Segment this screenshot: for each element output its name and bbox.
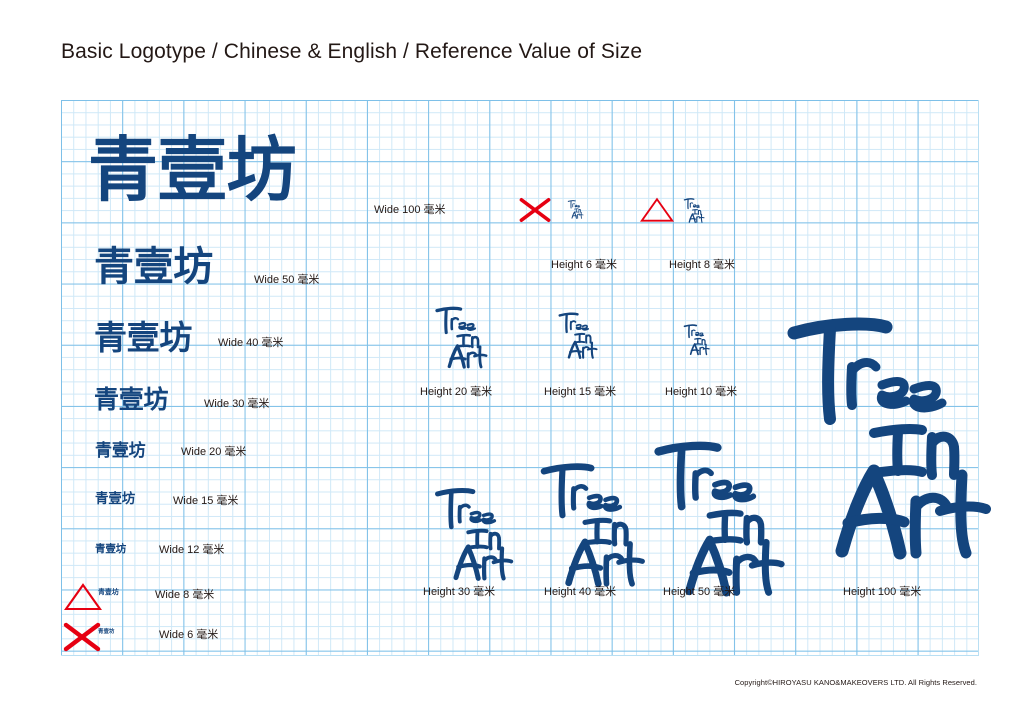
english-logotype-50 [656, 440, 784, 600]
english-logotype-10 [684, 324, 710, 356]
caption-chinese-30: Wide 30 毫米 [204, 399, 269, 410]
caption-chinese-12: Wide 12 毫米 [159, 545, 224, 556]
chinese-logotype-12: 青壹坊 [95, 544, 126, 555]
english-logotype-15 [559, 312, 597, 360]
caption-chinese-50: Wide 50 毫米 [254, 275, 319, 286]
page-title: Basic Logotype / Chinese & English / Ref… [61, 40, 642, 64]
caption-chinese-8: Wide 8 毫米 [155, 590, 214, 601]
chinese-logotype-8: 青壹坊 [98, 589, 119, 596]
english-logotype-100 [790, 315, 990, 565]
caption-english-20: Height 20 毫米 [420, 387, 492, 398]
chinese-logotype-100: 青壹坊 [88, 135, 296, 205]
caption-chinese-100: Wide 100 毫米 [374, 205, 446, 216]
caption-english-10: Height 10 毫米 [665, 387, 737, 398]
chinese-logotype-20: 青壹坊 [95, 443, 146, 460]
caption-chinese-40: Wide 40 毫米 [218, 338, 283, 349]
cross-mark-icon-english-6 [518, 196, 552, 224]
copyright-footer: Copyright©HIROYASU KANO&MAKEOVERS LTD. A… [735, 678, 977, 687]
caption-english-8: Height 8 毫米 [669, 260, 735, 271]
english-logotype-20 [436, 306, 487, 370]
artboard: Basic Logotype / Chinese & English / Ref… [0, 0, 1024, 724]
caption-english-15: Height 15 毫米 [544, 387, 616, 398]
english-logotype-6 [568, 200, 583, 219]
english-logotype-8 [684, 198, 704, 224]
chinese-logotype-50: 青壹坊 [94, 247, 213, 287]
caption-english-6: Height 6 毫米 [551, 260, 617, 271]
english-logotype-40 [542, 462, 644, 590]
triangle-warning-icon [64, 583, 102, 611]
caption-chinese-20: Wide 20 毫米 [181, 447, 246, 458]
chinese-logotype-40: 青壹坊 [94, 321, 192, 354]
english-logotype-30 [436, 487, 513, 583]
caption-english-50: Height 50 毫米 [663, 587, 735, 598]
caption-chinese-6: Wide 6 毫米 [159, 630, 218, 641]
caption-english-30: Height 30 毫米 [423, 587, 495, 598]
caption-chinese-15: Wide 15 毫米 [173, 496, 238, 507]
caption-english-100: Height 100 毫米 [843, 587, 921, 598]
chinese-logotype-6: 青壹坊 [98, 630, 114, 636]
cross-mark-icon [62, 622, 102, 652]
caption-english-40: Height 40 毫米 [544, 587, 616, 598]
chinese-logotype-15: 青壹坊 [95, 493, 135, 507]
chinese-logotype-30: 青壹坊 [94, 387, 168, 412]
triangle-warning-icon-english-8 [640, 197, 674, 223]
